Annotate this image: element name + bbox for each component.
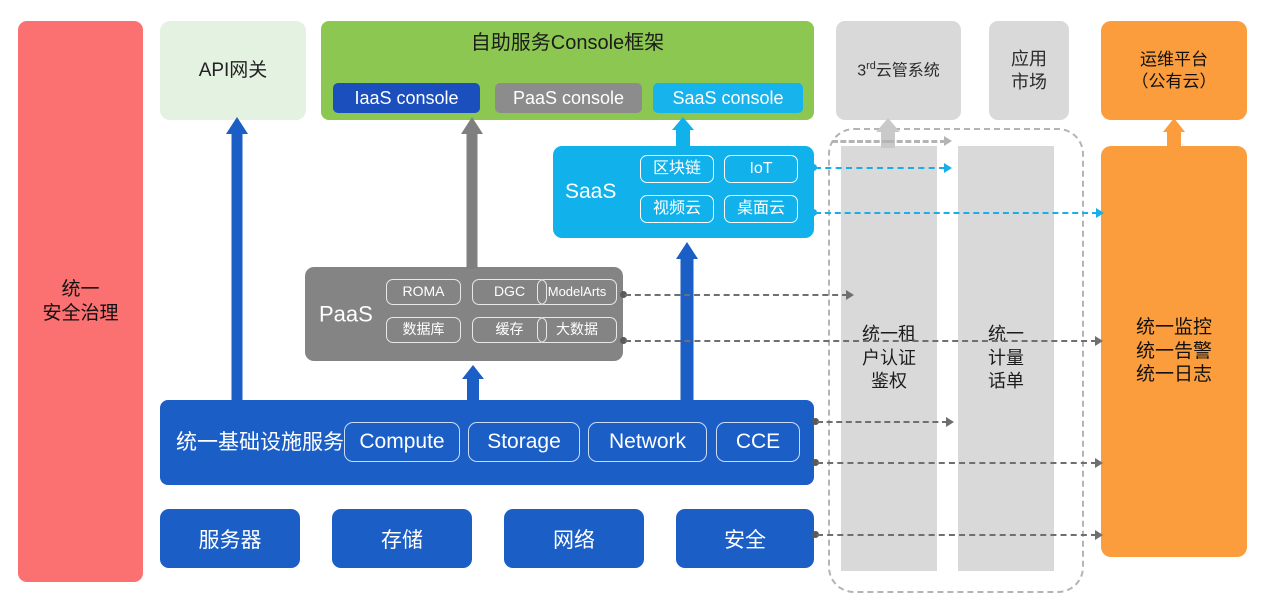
chip-database[interactable]: 数据库: [386, 317, 461, 343]
box-self-service-console: 自助服务Console框架 IaaS console PaaS console …: [321, 21, 814, 120]
dashed-line-third-party: [832, 140, 888, 143]
dashed-line-third-party-right: [888, 140, 946, 143]
chip-roma[interactable]: ROMA: [386, 279, 461, 305]
dashed-arrowhead-saas-ops: [1096, 208, 1104, 218]
arrow-infra-to-paas: [458, 365, 488, 401]
box-third-party-cloud-mgmt: 3rd云管系统: [836, 21, 961, 120]
box-paas: PaaS ROMA DGC ModelArts 数据库 缓存 大数据: [305, 267, 623, 361]
box-resource-security[interactable]: 安全: [676, 509, 814, 568]
dashed-arrowhead-paas-ops: [1095, 336, 1103, 346]
chip-iaas-console[interactable]: IaaS console: [333, 83, 480, 113]
arrow-third-party-up: [873, 118, 903, 148]
arrow-saas-to-console: [668, 117, 698, 148]
chip-storage[interactable]: Storage: [468, 422, 580, 462]
dashed-arrowhead-paas-auth: [846, 290, 854, 300]
box-api-gateway: API网关: [160, 21, 306, 120]
panel-unified-security: 统一 安全治理: [18, 21, 143, 582]
box-app-market: 应用 市场: [989, 21, 1069, 120]
dashed-arrowhead-saas-auth: [944, 163, 952, 173]
box-ops-platform: 运维平台 （公有云）: [1101, 21, 1247, 120]
box-resource-server[interactable]: 服务器: [160, 509, 300, 568]
box-resource-storage[interactable]: 存储: [332, 509, 472, 568]
panel-unified-metering: 统一 计量 话单: [958, 146, 1054, 571]
chip-paas-console[interactable]: PaaS console: [495, 83, 642, 113]
dashed-arrowhead-resource-ops: [1095, 530, 1103, 540]
dashed-arrowhead-infra-auth: [946, 417, 954, 427]
arrow-paas-to-console: [457, 117, 487, 269]
box-unified-infrastructure: 统一基础设施服务 Compute Storage Network CCE: [160, 400, 814, 485]
chip-modelarts[interactable]: ModelArts: [537, 279, 617, 305]
saas-label: SaaS: [565, 179, 616, 205]
chip-cache[interactable]: 缓存: [472, 317, 547, 343]
box-resource-network[interactable]: 网络: [504, 509, 644, 568]
chip-desktop-cloud[interactable]: 桌面云: [724, 195, 798, 223]
chip-saas-console[interactable]: SaaS console: [653, 83, 803, 113]
architecture-diagram: 统一 安全治理 API网关 自助服务Console框架 IaaS console…: [0, 0, 1265, 605]
arrow-ops-platform-up: [1159, 118, 1189, 148]
box-saas: SaaS 区块链 IoT 视频云 桌面云: [553, 146, 814, 238]
arrow-infra-to-saas: [672, 242, 702, 400]
dashed-infra-to-ops: [817, 462, 1097, 464]
arrow-api-gateway-up: [222, 117, 252, 403]
panel-ops-services: 统一监控 统一告警 统一日志: [1101, 146, 1247, 557]
dashed-saas-to-auth: [815, 167, 945, 169]
panel-unified-tenant-auth: 统一租 户认证 鉴权: [841, 146, 937, 571]
third-party-label: 3rd云管系统: [857, 60, 940, 81]
chip-blockchain[interactable]: 区块链: [640, 155, 714, 183]
dashed-resource-to-ops: [817, 534, 1097, 536]
dashed-paas-to-ops: [625, 340, 1097, 342]
dashed-paas-to-auth: [625, 294, 848, 296]
chip-compute[interactable]: Compute: [344, 422, 460, 462]
chip-dgc[interactable]: DGC: [472, 279, 547, 305]
infrastructure-label: 统一基础设施服务: [176, 429, 344, 455]
chip-bigdata[interactable]: 大数据: [537, 317, 617, 343]
chip-iot[interactable]: IoT: [724, 155, 798, 183]
dashed-arrowhead-third-party: [944, 136, 952, 146]
paas-label: PaaS: [319, 300, 373, 328]
dashed-saas-to-ops: [815, 212, 1098, 214]
chip-cce[interactable]: CCE: [716, 422, 800, 462]
dashed-infra-to-auth: [817, 421, 948, 423]
chip-video-cloud[interactable]: 视频云: [640, 195, 714, 223]
chip-network[interactable]: Network: [588, 422, 707, 462]
console-title: 自助服务Console框架: [321, 31, 814, 56]
dashed-arrowhead-infra-ops: [1095, 458, 1103, 468]
